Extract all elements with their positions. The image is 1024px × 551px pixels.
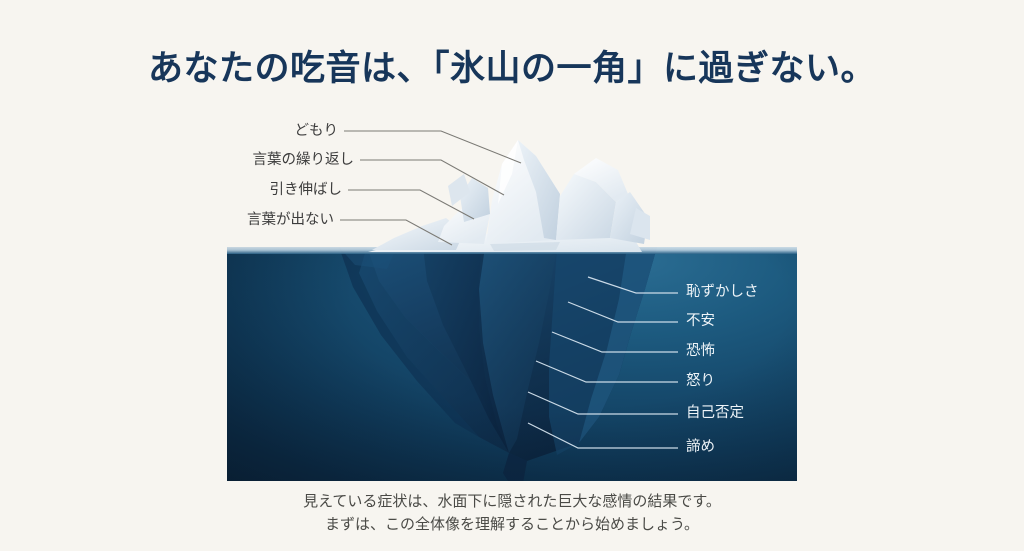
label-akirame: 諦め [686, 440, 715, 455]
label-domori: どもり [295, 124, 339, 139]
caption-line-2: まずは、この全体像を理解することから始めましょう。 [0, 513, 1024, 536]
label-hazukashisa: 恥ずかしさ [686, 285, 759, 300]
iceberg-above-water [360, 130, 650, 252]
label-kyoufu: 恐怖 [686, 344, 715, 359]
page-title: あなたの吃音は、「氷山の一角」に過ぎない。 [0, 48, 1024, 90]
label-fuan: 不安 [686, 314, 715, 329]
label-jiko-hitei: 自己否定 [686, 406, 744, 421]
caption-line-1: 見えている症状は、水面下に隠された巨大な感情の結果です。 [0, 490, 1024, 513]
label-kotoba-ga-denai: 言葉が出ない [247, 213, 334, 228]
label-ikari: 怒り [686, 374, 715, 389]
label-kotoba-no-kurikaeshi: 言葉の繰り返し [253, 153, 355, 168]
label-hikinobashi: 引き伸ばし [270, 183, 343, 198]
slide-canvas: あなたの吃音は、「氷山の一角」に過ぎない。 [0, 0, 1024, 551]
caption: 見えている症状は、水面下に隠された巨大な感情の結果です。 まずは、この全体像を理… [0, 490, 1024, 537]
